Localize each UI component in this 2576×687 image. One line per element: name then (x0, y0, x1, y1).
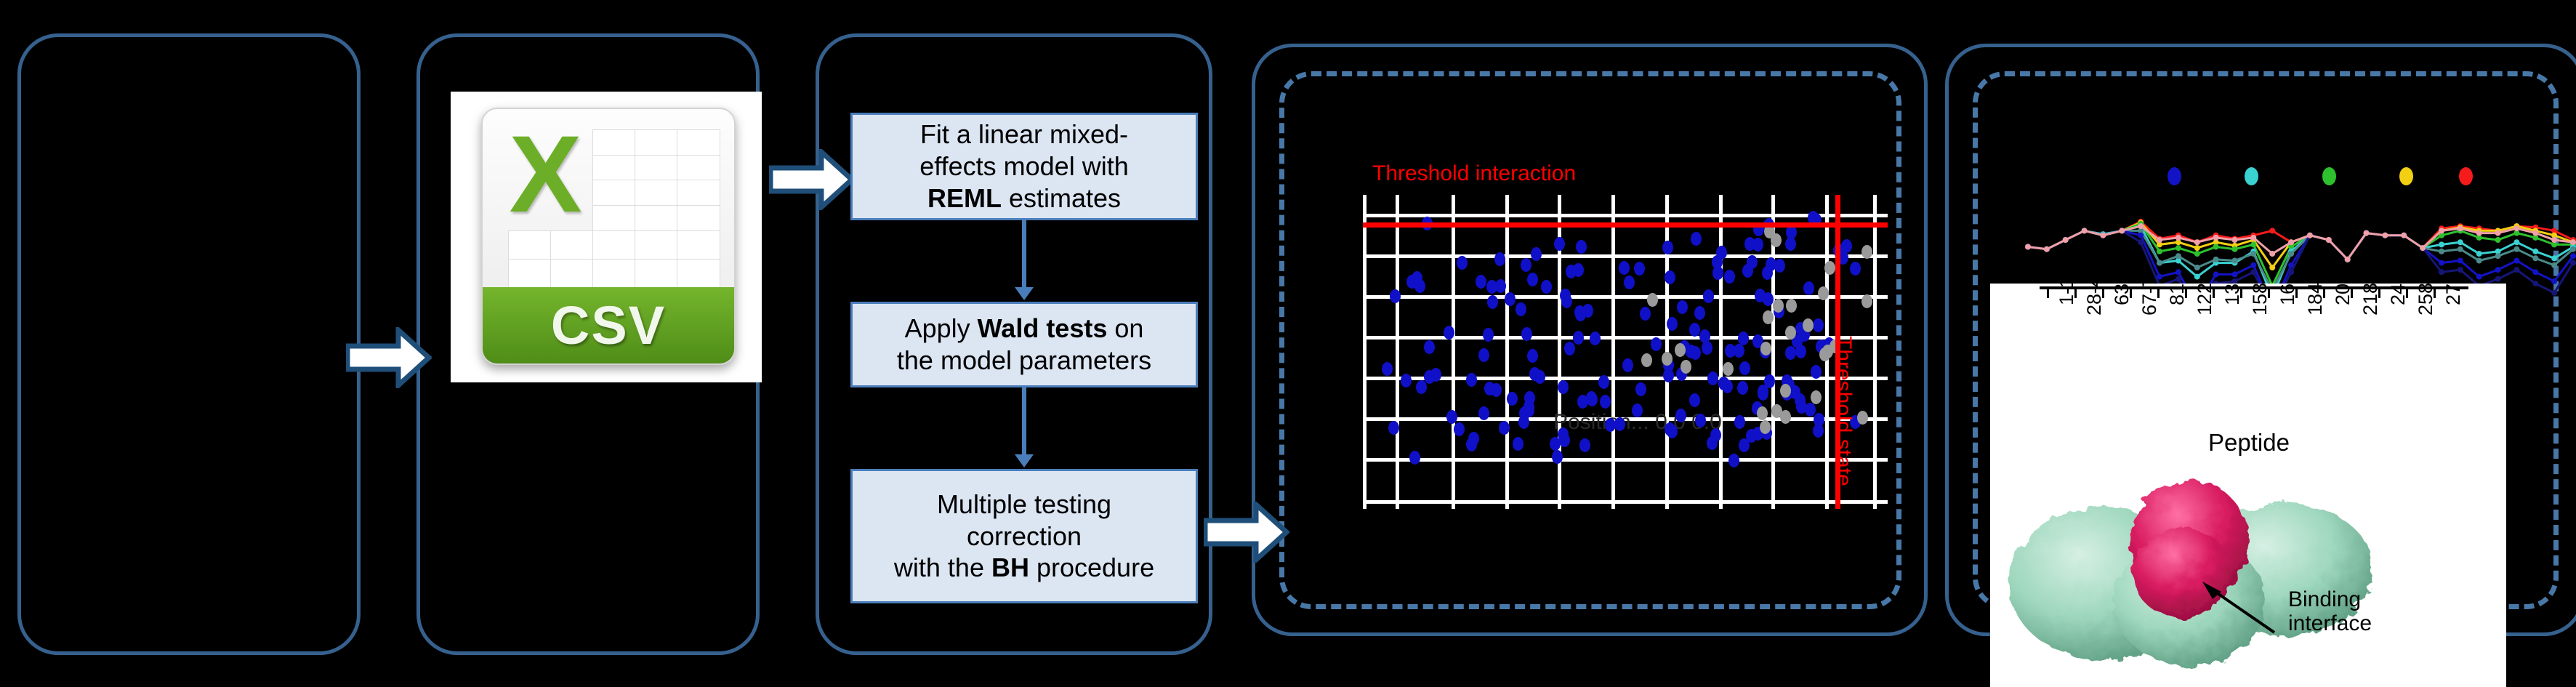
step-bh-line3-post: procedure (1029, 553, 1154, 582)
scatter-point (1499, 421, 1510, 435)
scatter-point (1814, 413, 1824, 427)
arrow-csv-to-stats (769, 149, 855, 210)
step-wald-line2: the model parameters (897, 345, 1151, 375)
scatter-point (1771, 233, 1782, 247)
chart-data-point (2570, 253, 2576, 259)
chart-data-point (2213, 244, 2219, 250)
gridline-vertical (1505, 195, 1509, 509)
scatter-point (1534, 370, 1545, 384)
chart-data-point (2495, 237, 2501, 243)
scatter-point (1681, 360, 1691, 374)
legend-dot-2 (2245, 167, 2258, 185)
chart-data-point (2513, 225, 2519, 231)
chart-data-point (2138, 223, 2144, 229)
scatter-point (1476, 275, 1486, 289)
scatter-point (1795, 393, 1806, 407)
scatter-point (1785, 346, 1796, 360)
scatter-point (1487, 295, 1498, 309)
scatter-point (1382, 362, 1393, 376)
chart-data-point (2269, 251, 2275, 257)
step-wald-box[interactable]: Apply Wald tests on the model parameters (850, 302, 1198, 387)
scatter-point (1755, 289, 1766, 302)
scatter-point (1521, 258, 1531, 272)
scatter-point (1424, 340, 1435, 354)
scatter-point (1566, 265, 1577, 278)
chart-data-point (2288, 251, 2294, 257)
x-axis-tick-label: 200-214 (2332, 284, 2354, 305)
scatter-point (1579, 438, 1590, 452)
scatter-point (1466, 373, 1477, 387)
gridline-vertical (1396, 195, 1399, 509)
scatter-point (1803, 281, 1814, 295)
step-bh-line1: Multiple testing (937, 489, 1111, 519)
legend-dot-1 (2168, 167, 2181, 185)
scatter-point (1722, 379, 1733, 393)
chart-data-point (2476, 251, 2482, 257)
scatter-point (1412, 271, 1422, 285)
scatter-point (1665, 270, 1675, 284)
chart-data-point (2269, 265, 2275, 270)
scatter-point (1739, 361, 1750, 375)
chart-data-point (2495, 276, 2501, 282)
input-panel (17, 33, 361, 655)
chart-data-point (2551, 237, 2557, 243)
chart-data-point (2100, 233, 2106, 238)
scatter-point (1707, 371, 1718, 385)
scatter-point (1811, 365, 1822, 379)
binding-interface-label: Binding interface (2288, 587, 2372, 635)
scatter-point (1600, 395, 1611, 409)
chart-data-point (2532, 255, 2538, 261)
chart-data-point (2458, 258, 2463, 264)
scatter-point (1691, 232, 1702, 246)
scatter-point (1818, 286, 1829, 300)
chart-data-point (2570, 239, 2576, 245)
scatter-point (1763, 310, 1774, 324)
chart-data-point (2157, 237, 2162, 243)
chart-data-point (2175, 235, 2181, 241)
chart-data-point (2194, 239, 2200, 245)
scatter-point (1466, 438, 1477, 451)
scatter-point (1738, 332, 1749, 345)
chart-data-point (2513, 246, 2519, 252)
x-axis-title: Peptide (2208, 429, 2290, 457)
scatter-point (1624, 276, 1635, 289)
binding-interface-line1: Binding (2288, 587, 2372, 611)
chart-data-point (2232, 246, 2238, 252)
chart-data-point (2570, 246, 2576, 252)
scatter-point (1430, 368, 1441, 382)
threshold-interaction-label: Threshold interaction (1372, 161, 1576, 186)
x-axis-tick-label: 158-166 (2249, 284, 2271, 316)
gridline-horizontal (1363, 377, 1888, 380)
scatter-point (1640, 307, 1651, 321)
scatter-point (1771, 404, 1782, 418)
y-axis-partial-tick: 0.0 (1992, 264, 2023, 289)
chart-data-point (2532, 249, 2538, 254)
chart-data-point (2250, 269, 2256, 275)
scatter-point (1725, 344, 1736, 358)
step-bh-keyword: BH (991, 553, 1029, 582)
chart-data-point (2269, 228, 2275, 233)
scatter-point (1813, 318, 1824, 332)
scatter-point (1598, 375, 1609, 389)
chart-data-point (2458, 267, 2463, 273)
scatter-point (1446, 410, 1457, 424)
chart-data-point (2157, 249, 2162, 254)
chart-data-point (2157, 260, 2162, 266)
chart-data-point (2532, 269, 2538, 275)
scatter-point (1507, 392, 1518, 406)
gridline-vertical (1719, 195, 1723, 509)
step-reml-line1: Fit a linear mixed- (920, 119, 1128, 149)
scatter-point (1811, 390, 1822, 404)
scatter-point (1747, 255, 1758, 269)
scatter-point (1541, 280, 1552, 294)
scatter-point (1824, 261, 1835, 275)
x-axis-tick-label: 63-73 (2111, 284, 2133, 305)
scatter-point (1587, 393, 1598, 406)
x-axis-tick-label: 67-75 (2138, 284, 2161, 316)
scatter-point (1486, 280, 1497, 294)
chart-data-point (2364, 230, 2370, 236)
step-wald-line1-post: on (1107, 313, 1143, 343)
scatter-point (1605, 418, 1616, 432)
chart-data-point (2495, 230, 2501, 236)
csv-file-card: X CSV (451, 92, 762, 382)
chart-data-point (2439, 228, 2444, 233)
scatter-point (1757, 406, 1768, 420)
scatter-point (1760, 420, 1771, 434)
chart-data-point (2513, 239, 2519, 245)
chart-data-point (2532, 281, 2538, 286)
x-axis-tick-label: 122-129 (2194, 284, 2216, 316)
scatter-point (1619, 261, 1630, 275)
chart-data-point (2307, 233, 2313, 238)
chart-data-point (2382, 233, 2388, 238)
scatter-point (1457, 256, 1468, 270)
scatter-point (1689, 323, 1700, 337)
scatter-point (1786, 299, 1797, 313)
chart-data-point (2570, 260, 2576, 266)
scatter-point (1803, 318, 1814, 332)
threshold-state-label: Threshold state (1831, 336, 1856, 486)
csv-format-band: CSV (483, 287, 734, 363)
scatter-point (1634, 262, 1645, 276)
legend-dot-4 (2399, 167, 2413, 185)
scatter-point (1675, 343, 1686, 357)
binding-interface-line2: interface (2288, 611, 2372, 635)
scatter-point (1635, 382, 1646, 396)
scatter-point (1734, 415, 1745, 429)
scatter-point (1416, 380, 1427, 394)
scatter-point (1703, 289, 1714, 303)
chart-data-point (2551, 255, 2557, 261)
scatter-point (1483, 328, 1494, 342)
chart-data-point (2401, 233, 2407, 238)
chart-data-point (2194, 251, 2200, 257)
chart-data-point (2175, 253, 2181, 259)
scatter-point (1573, 331, 1584, 345)
scatter-point (1774, 259, 1785, 273)
chart-data-point (2119, 228, 2125, 233)
scatter-point (1558, 380, 1569, 394)
chart-data-point (2458, 225, 2463, 231)
chart-data-point (2420, 245, 2426, 251)
scatter-point (1819, 347, 1830, 361)
scatter-point (1641, 353, 1652, 367)
csv-file-icon: X CSV (481, 108, 736, 365)
chart-data-point (2476, 230, 2482, 236)
scatter-point (1409, 451, 1420, 465)
chart-data-point (2495, 267, 2501, 273)
chart-data-point (2063, 237, 2069, 243)
gridline-horizontal (1363, 458, 1888, 462)
scatter-point (1454, 422, 1465, 436)
gridline-horizontal (1363, 295, 1888, 299)
scatter-point (1689, 393, 1700, 407)
scatter-point (1518, 415, 1529, 429)
scatter-point (1861, 294, 1872, 308)
chart-data-point (2232, 258, 2238, 264)
scatter-point (1647, 293, 1658, 307)
chart-data-point (2232, 271, 2238, 277)
scatter-point (1590, 332, 1601, 345)
scatter-point (1527, 273, 1538, 286)
csv-format-label: CSV (551, 294, 666, 356)
scatter-point (1622, 358, 1633, 372)
scatter-point (1695, 414, 1706, 427)
gridline-vertical (1363, 195, 1367, 509)
chart-data-point (2439, 249, 2444, 254)
scatter-point (1702, 341, 1712, 355)
x-axis-tick-label: 1-15 (2056, 284, 2078, 305)
results-figure-card: 1-1528-4463-7367-7581-101122-129135-1441… (1990, 284, 2506, 687)
chart-data-point (2439, 269, 2444, 275)
chart-data-point (2194, 274, 2200, 280)
step-reml-box[interactable]: Fit a linear mixed- effects model with R… (850, 113, 1198, 220)
scatter-point (1564, 342, 1575, 355)
step-reml-keyword: REML (927, 183, 1002, 213)
scatter-point (1773, 299, 1784, 313)
arrow-input-to-csv (346, 327, 432, 388)
step-reml-line2: effects model with (919, 151, 1128, 181)
chart-data-point (2213, 235, 2219, 241)
arrow-stats-to-volcano (1204, 502, 1289, 563)
scatter-point (1444, 326, 1454, 340)
chart-data-point (2345, 257, 2351, 262)
scatter-point (1651, 337, 1662, 351)
scatter-point (1513, 437, 1524, 451)
scatter-point (1861, 245, 1872, 259)
protein-surface-structure (1995, 464, 2402, 682)
x-axis-tick-label: 277-284 (2442, 284, 2465, 305)
scatter-point (1662, 352, 1673, 366)
step-wald-keyword: Wald tests (978, 313, 1108, 343)
gridline-horizontal (1363, 254, 1888, 258)
chart-data-point (2288, 269, 2294, 275)
scatter-point (1582, 304, 1593, 318)
x-axis-tick-label: 81-101 (2166, 284, 2189, 305)
volcano-scatter-plot: Position... 0.0 0.0 (1363, 195, 1888, 509)
chart-data-point (2495, 253, 2501, 259)
chart-data-point (2439, 260, 2444, 266)
scatter-point (1662, 241, 1673, 254)
x-axis-tick (2047, 288, 2049, 298)
gridline-horizontal (1363, 500, 1888, 504)
scatter-point (1746, 429, 1757, 443)
chart-data-point (2175, 276, 2181, 282)
scatter-point (1576, 240, 1587, 254)
scatter-point (1744, 237, 1755, 251)
x-axis-tick-label: 241-257 (2387, 284, 2410, 305)
scatter-point (1527, 349, 1538, 363)
scatter-point (1795, 345, 1806, 358)
gridline-vertical (1873, 195, 1877, 509)
scatter-point (1478, 348, 1489, 362)
scatter-point (1491, 383, 1502, 397)
scatter-point (1494, 252, 1505, 266)
scatter-point (1401, 374, 1412, 387)
chart-data-point (2194, 265, 2200, 270)
scatter-point (1560, 289, 1571, 302)
scatter-point (1505, 292, 1516, 306)
threshold-interaction-line (1363, 222, 1888, 228)
chart-data-point (2250, 241, 2256, 247)
chart-data-point (2213, 271, 2219, 277)
legend-dot-5 (2459, 167, 2473, 185)
scatter-point (1712, 266, 1723, 280)
scatter-point (1785, 326, 1796, 340)
scatter-point (1516, 302, 1526, 316)
scatter-point (1724, 270, 1735, 284)
chart-data-point (2458, 246, 2463, 252)
scatter-point (1850, 262, 1861, 276)
x-axis-tick-label: 184-199 (2304, 284, 2327, 316)
step-reml-line3-rest: estimates (1002, 183, 1121, 213)
scatter-point (1667, 425, 1678, 438)
scatter-point (1694, 306, 1705, 320)
chart-data-point (2175, 245, 2181, 251)
chart-data-point (2025, 244, 2031, 250)
chart-data-point (2439, 241, 2444, 247)
scatter-point (1758, 385, 1768, 398)
step-bh-box[interactable]: Multiple testing correction with the BH … (850, 469, 1198, 603)
chart-data-point (2175, 269, 2181, 275)
chart-data-point (2082, 228, 2088, 233)
chart-data-point (2476, 258, 2482, 264)
chart-data-point (2326, 237, 2332, 243)
chart-data-point (2551, 278, 2557, 284)
chart-data-point (2213, 257, 2219, 262)
scatter-point (1780, 384, 1791, 398)
scatter-point (1728, 454, 1739, 467)
chart-data-point (2138, 239, 2144, 245)
scatter-point (1390, 289, 1401, 303)
chart-data-point (2138, 233, 2144, 238)
chart-data-point (2044, 246, 2050, 252)
x-axis-tick-label: 135-144 (2221, 284, 2244, 305)
step-bh-line3-pre: with the (894, 553, 991, 582)
step-wald-line1-pre: Apply (905, 313, 978, 343)
scatter-point (1550, 437, 1561, 451)
scatter-point (1723, 362, 1734, 376)
gridline-vertical (1611, 195, 1615, 509)
chart-data-point (2551, 290, 2557, 296)
excel-x-glyph: X (495, 119, 595, 252)
scatter-point (1675, 409, 1686, 422)
chart-data-point (2288, 239, 2294, 245)
scatter-point (1531, 247, 1542, 261)
x-axis-tick-label: 218-237 (2359, 284, 2382, 316)
x-axis-tick-label: 28-44 (2083, 284, 2106, 316)
chart-data-point (2250, 262, 2256, 268)
chart-data-point (2232, 237, 2238, 243)
x-axis-tick-label: 167-180 (2277, 284, 2299, 305)
scatter-point (1559, 433, 1570, 447)
scatter-point (1857, 411, 1868, 425)
chart-data-point (2476, 274, 2482, 280)
step-bh-line2: correction (967, 521, 1082, 551)
scatter-point (1667, 317, 1678, 331)
scatter-point (1737, 381, 1748, 395)
legend-dot-3 (2322, 167, 2336, 185)
chart-data-point (2532, 230, 2538, 236)
x-axis-tick-label: 258-266 (2415, 284, 2437, 316)
scatter-point (1554, 237, 1565, 251)
scatter-point (1699, 329, 1710, 343)
chart-data-point (2250, 235, 2256, 241)
scatter-point (1677, 300, 1688, 314)
chart-data-point (2513, 258, 2519, 264)
chart-data-point (2458, 239, 2463, 245)
chart-data-point (2551, 262, 2557, 268)
chart-data-point (2250, 251, 2256, 257)
chart-data-point (2194, 245, 2200, 251)
scatter-point (1524, 391, 1535, 405)
gridline-vertical (1452, 195, 1455, 509)
scatter-point (1521, 327, 1532, 341)
chart-data-point (2513, 267, 2519, 273)
